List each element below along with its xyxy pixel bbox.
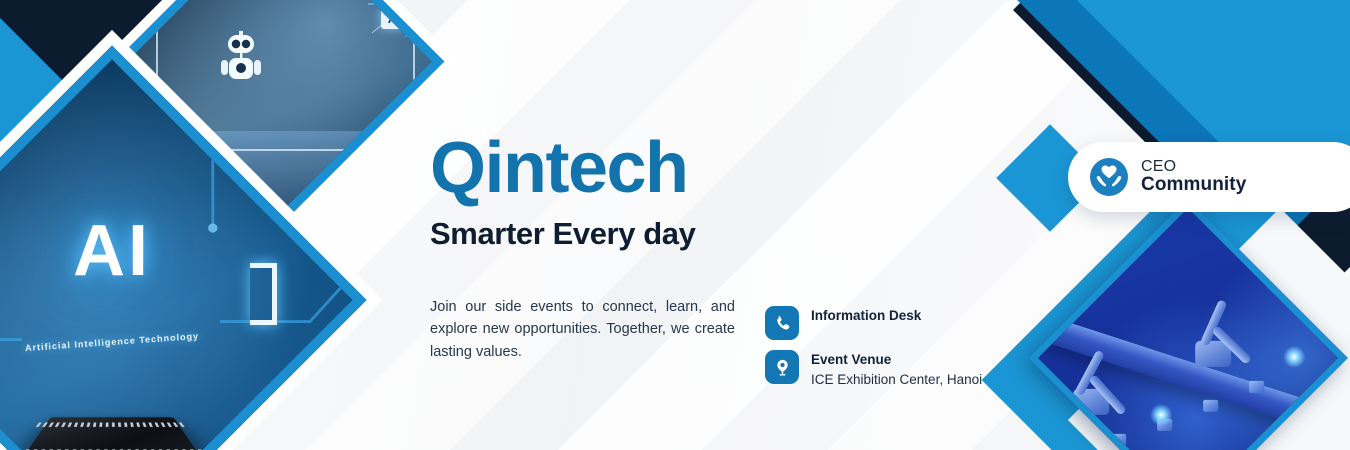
contact-detail: ICE Exhibition Center, Hanoi xyxy=(811,371,982,389)
robot-mascot-icon xyxy=(218,31,264,83)
product-box xyxy=(1249,381,1264,393)
contact-row-event-venue: Event Venue ICE Exhibition Center, Hanoi xyxy=(765,350,982,388)
location-pin-icon xyxy=(765,350,799,384)
weld-spark xyxy=(1150,404,1172,426)
contact-title: Information Desk xyxy=(811,308,921,325)
phone-icon xyxy=(765,306,799,340)
headline-block: Qintech Smarter Every day Join our side … xyxy=(430,132,790,363)
promo-banner: Ai Agent Ai xyxy=(0,0,1350,450)
hands-heart-icon xyxy=(1090,158,1128,196)
ai-bracket-right xyxy=(250,263,277,325)
tagline: Smarter Every day xyxy=(430,218,790,249)
product-box xyxy=(1112,434,1127,446)
page-title: Qintech xyxy=(430,132,790,204)
logo-line-2: Community xyxy=(1141,175,1246,195)
contact-title: Event Venue xyxy=(811,352,982,369)
ai-glyph-text: AI xyxy=(73,210,151,292)
ceo-community-logo-badge[interactable]: CEO Community xyxy=(1068,142,1350,212)
ceo-community-wordmark: CEO Community xyxy=(1141,159,1246,196)
contact-row-information-desk: Information Desk xyxy=(765,306,982,340)
microchip-shape xyxy=(16,417,208,450)
weld-spark xyxy=(1283,347,1305,369)
body-copy: Join our side events to connect, learn, … xyxy=(430,296,735,363)
contact-info-block: Information Desk Event Venue ICE Exhibit… xyxy=(765,306,982,398)
contact-texts: Information Desk xyxy=(811,306,921,325)
product-box xyxy=(1203,400,1218,412)
logo-line-1: CEO xyxy=(1141,159,1246,176)
contact-texts: Event Venue ICE Exhibition Center, Hanoi xyxy=(811,350,982,388)
